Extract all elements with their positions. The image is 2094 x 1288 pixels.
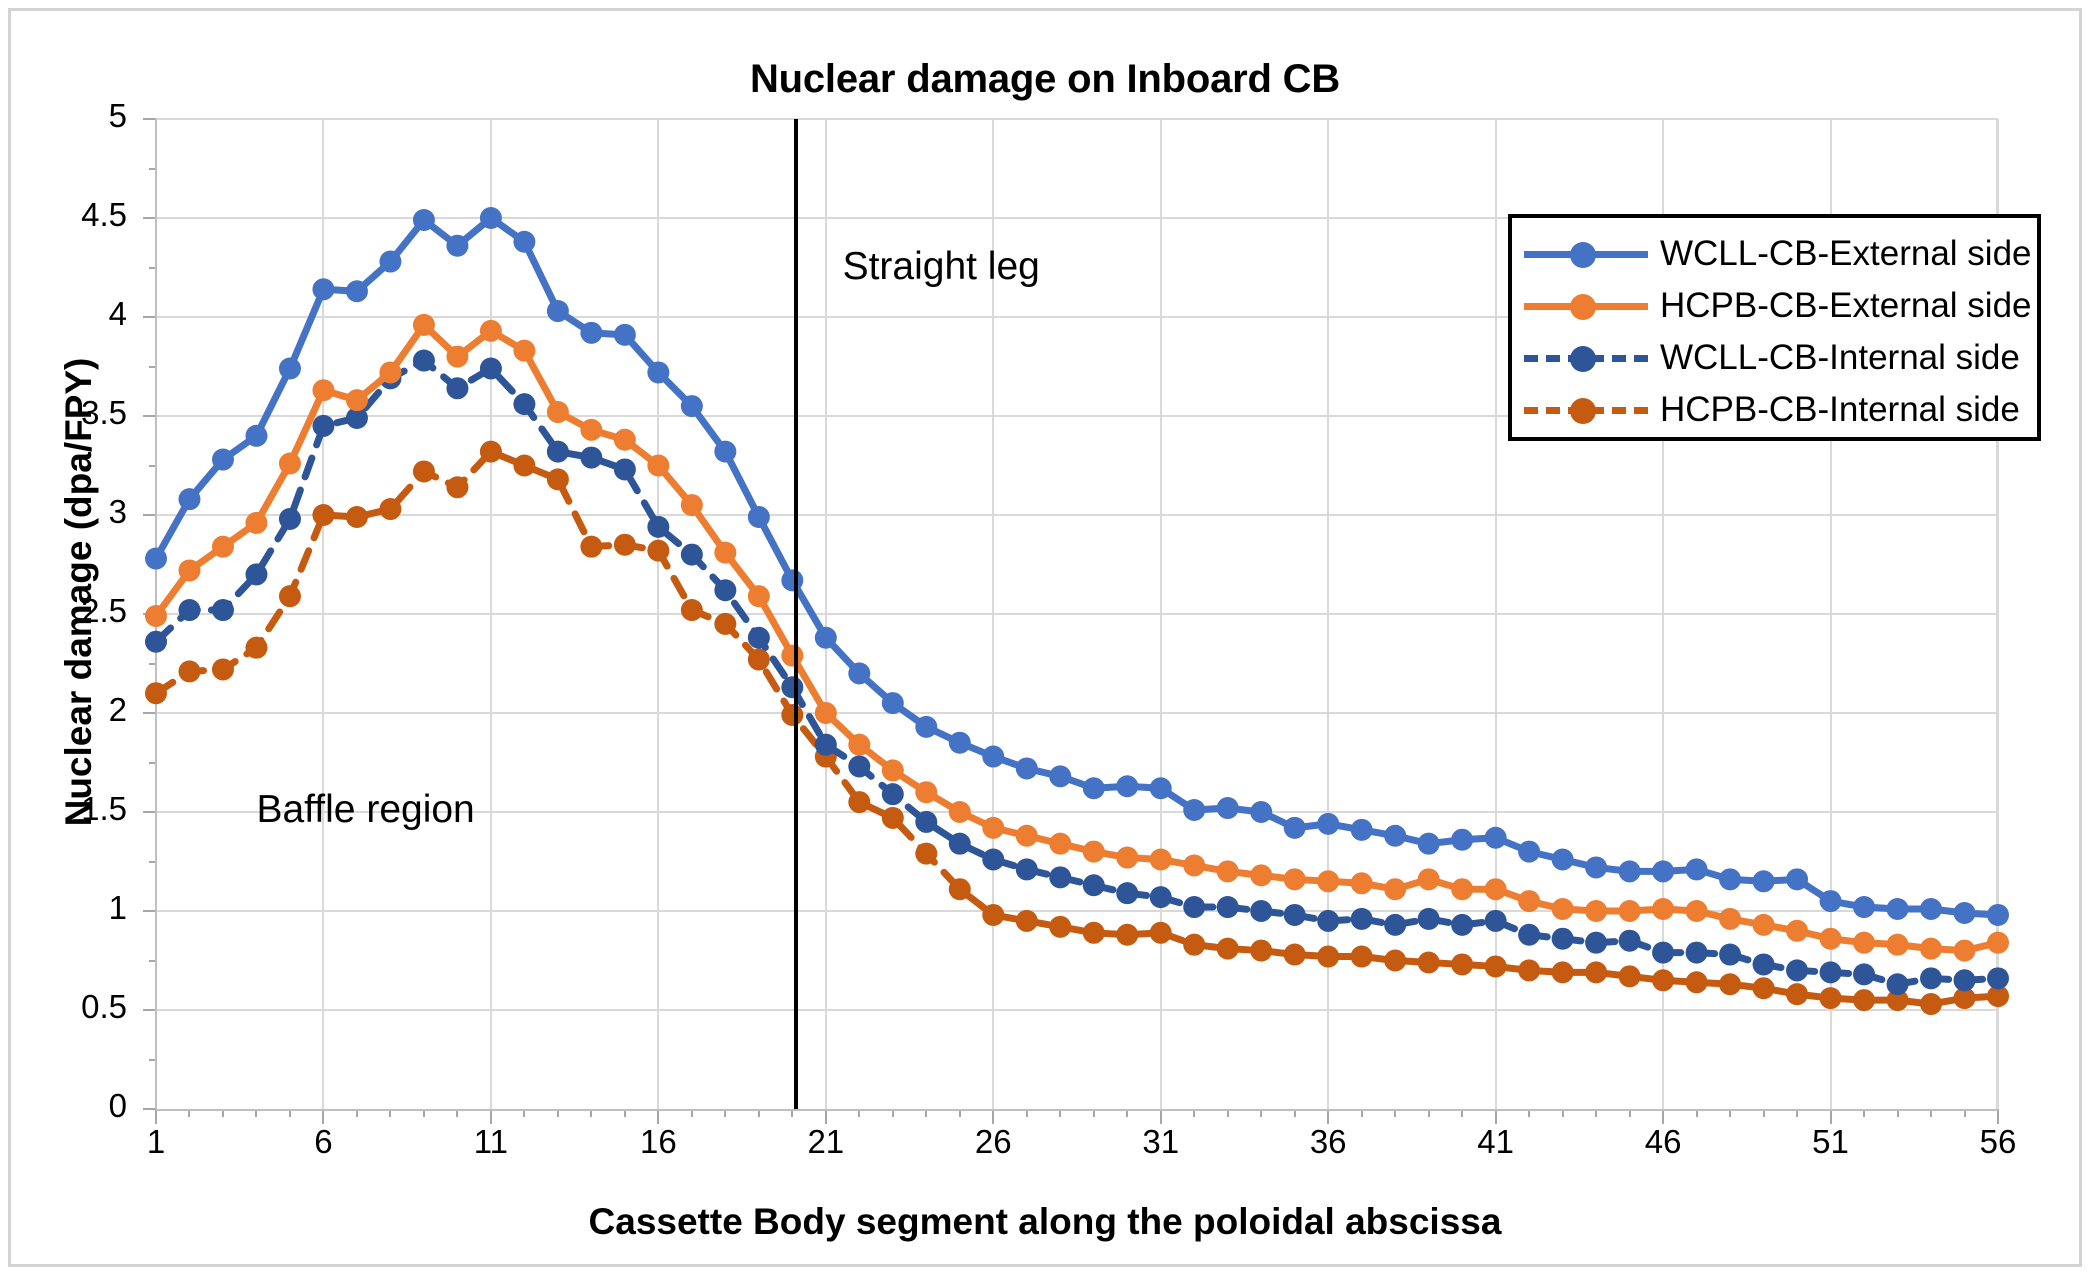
legend-label: HCPB-CB-External side: [1660, 286, 2032, 326]
x-tick-mark: [992, 1109, 994, 1124]
data-point: [1250, 864, 1272, 886]
data-point: [949, 801, 971, 823]
x-tick-mark: [825, 1109, 827, 1124]
data-point: [1384, 950, 1406, 972]
legend-item[interactable]: HCPB-CB-Internal side: [1524, 388, 2020, 432]
data-point: [346, 389, 368, 411]
data-point: [1753, 914, 1775, 936]
x-tick-mark: [155, 1109, 157, 1124]
legend-swatch-icon: [1524, 240, 1648, 268]
data-point: [614, 534, 636, 556]
data-point: [580, 447, 602, 469]
data-point: [279, 453, 301, 475]
data-point: [1418, 908, 1440, 930]
annotation-straight-leg: Straight leg: [843, 245, 1040, 289]
data-point: [145, 682, 167, 704]
data-point: [1518, 890, 1540, 912]
data-point: [1384, 878, 1406, 900]
data-point: [1016, 858, 1038, 880]
data-point: [1116, 882, 1138, 904]
chart-title: Nuclear damage on Inboard CB: [11, 57, 2079, 102]
data-point: [245, 425, 267, 447]
data-point: [1853, 932, 1875, 954]
x-tick-label: 21: [807, 1123, 844, 1161]
data-point: [145, 605, 167, 627]
data-point: [513, 393, 535, 415]
data-point: [1719, 944, 1741, 966]
x-tick-mark: [657, 1109, 659, 1124]
data-point: [882, 759, 904, 781]
data-point: [480, 441, 502, 463]
data-point: [1619, 900, 1641, 922]
y-tick-label: 0: [109, 1087, 127, 1125]
data-point: [1920, 967, 1942, 989]
data-point: [1887, 934, 1909, 956]
data-point: [1920, 898, 1942, 920]
x-tick-label: 46: [1645, 1123, 1682, 1161]
x-tick-label: 11: [474, 1123, 508, 1161]
data-point: [1619, 965, 1641, 987]
data-point: [1552, 928, 1574, 950]
data-point: [1954, 940, 1976, 962]
data-point: [1954, 969, 1976, 991]
data-point: [1451, 829, 1473, 851]
data-point: [681, 494, 703, 516]
data-point: [580, 419, 602, 441]
data-point: [1384, 825, 1406, 847]
data-point: [882, 783, 904, 805]
data-point: [245, 563, 267, 585]
data-point: [379, 498, 401, 520]
x-tick-mark: [322, 1109, 324, 1124]
data-point: [1016, 910, 1038, 932]
data-point: [748, 649, 770, 671]
data-point: [781, 645, 803, 667]
series-line: [156, 361, 1998, 985]
data-point: [1786, 983, 1808, 1005]
data-point: [949, 732, 971, 754]
data-point: [279, 357, 301, 379]
x-tick-label: 36: [1310, 1123, 1347, 1161]
data-point: [1418, 833, 1440, 855]
data-point: [1786, 868, 1808, 890]
data-point: [1719, 908, 1741, 930]
data-point: [1719, 973, 1741, 995]
data-point: [1753, 870, 1775, 892]
data-point: [1183, 896, 1205, 918]
data-point: [681, 599, 703, 621]
data-point: [1016, 825, 1038, 847]
data-point: [915, 716, 937, 738]
data-point: [714, 613, 736, 635]
data-point: [547, 468, 569, 490]
data-point: [1116, 775, 1138, 797]
data-point: [379, 361, 401, 383]
x-tick-label: 51: [1812, 1123, 1849, 1161]
data-point: [647, 540, 669, 562]
data-point: [1284, 817, 1306, 839]
data-point: [1853, 896, 1875, 918]
data-point: [1217, 938, 1239, 960]
y-axis-tick-labels: 00.511.522.533.544.55: [11, 11, 151, 1288]
data-point: [1585, 856, 1607, 878]
data-point: [1552, 898, 1574, 920]
data-point: [647, 516, 669, 538]
data-point: [848, 755, 870, 777]
data-point: [1049, 916, 1071, 938]
legend-marker-dot-icon: [1570, 398, 1596, 424]
data-point: [1585, 961, 1607, 983]
data-point: [714, 579, 736, 601]
data-point: [1686, 942, 1708, 964]
data-point: [848, 734, 870, 756]
data-point: [513, 340, 535, 362]
chart-frame: Nuclear damage on Inboard CB Nuclear dam…: [8, 8, 2082, 1267]
data-point: [1619, 860, 1641, 882]
data-point: [1351, 872, 1373, 894]
x-tick-label: 56: [1980, 1123, 2017, 1161]
annotation-baffle-region: Baffle region: [256, 788, 474, 832]
data-point: [547, 300, 569, 322]
data-point: [681, 395, 703, 417]
y-tick-label: 4: [109, 295, 127, 333]
x-axis-title: Cassette Body segment along the poloidal…: [11, 1201, 2079, 1243]
legend-item[interactable]: WCLL-CB-Internal side: [1524, 336, 2020, 380]
data-point: [413, 209, 435, 231]
data-point: [1083, 922, 1105, 944]
data-point: [848, 791, 870, 813]
data-point: [1049, 765, 1071, 787]
data-point: [781, 569, 803, 591]
data-point: [1753, 977, 1775, 999]
legend-marker-dot-icon: [1570, 242, 1596, 268]
legend-marker-dot-icon: [1570, 346, 1596, 372]
y-tick-label: 1.5: [81, 790, 127, 828]
data-point: [1619, 930, 1641, 952]
data-point: [212, 536, 234, 558]
data-point: [1250, 900, 1272, 922]
y-tick-label: 3.5: [81, 394, 127, 432]
data-point: [714, 542, 736, 564]
data-point: [1217, 860, 1239, 882]
x-tick-mark: [1662, 1109, 1664, 1124]
data-point: [1518, 959, 1540, 981]
y-tick-label: 2.5: [81, 592, 127, 630]
data-point: [312, 504, 334, 526]
data-point: [1317, 910, 1339, 932]
data-point: [1585, 900, 1607, 922]
data-point: [212, 599, 234, 621]
data-point: [1987, 904, 2009, 926]
data-point: [1652, 860, 1674, 882]
x-tick-mark: [490, 1109, 492, 1124]
data-point: [1686, 900, 1708, 922]
data-point: [1116, 847, 1138, 869]
data-point: [413, 460, 435, 482]
legend-marker-dot-icon: [1570, 294, 1596, 320]
data-point: [1686, 858, 1708, 880]
data-point: [1049, 833, 1071, 855]
data-point: [1183, 799, 1205, 821]
data-point: [1083, 874, 1105, 896]
legend-swatch-icon: [1524, 292, 1648, 320]
data-point: [1250, 940, 1272, 962]
data-point: [1351, 819, 1373, 841]
data-point: [1049, 866, 1071, 888]
data-point: [1284, 944, 1306, 966]
data-point: [1853, 963, 1875, 985]
data-point: [1150, 922, 1172, 944]
data-point: [1083, 777, 1105, 799]
data-point: [915, 843, 937, 865]
data-point: [145, 631, 167, 653]
y-tick-label: 5: [109, 97, 127, 135]
legend-label: WCLL-CB-External side: [1660, 234, 2032, 274]
data-point: [647, 455, 669, 477]
data-point: [949, 878, 971, 900]
y-tick-label: 3: [109, 493, 127, 531]
data-point: [882, 692, 904, 714]
y-tick-label: 2: [109, 691, 127, 729]
data-point: [145, 548, 167, 570]
data-point: [1887, 973, 1909, 995]
legend-label: WCLL-CB-Internal side: [1660, 338, 2020, 378]
x-tick-mark: [1830, 1109, 1832, 1124]
data-point: [1485, 878, 1507, 900]
x-axis-tick-marks: [156, 1109, 1998, 1125]
data-point: [580, 536, 602, 558]
data-point: [614, 324, 636, 346]
data-point: [1217, 896, 1239, 918]
data-point: [547, 401, 569, 423]
data-point: [513, 455, 535, 477]
x-tick-mark: [1495, 1109, 1497, 1124]
data-point: [1485, 827, 1507, 849]
data-point: [1652, 969, 1674, 991]
data-point: [1183, 854, 1205, 876]
data-point: [312, 278, 334, 300]
data-point: [1987, 932, 2009, 954]
data-point: [1820, 928, 1842, 950]
region-divider-line: [794, 119, 798, 1109]
data-point: [446, 476, 468, 498]
data-point: [681, 544, 703, 566]
data-point: [178, 488, 200, 510]
data-point: [1284, 868, 1306, 890]
legend-item[interactable]: HCPB-CB-External side: [1524, 284, 2032, 328]
legend-swatch-icon: [1524, 344, 1648, 372]
data-point: [547, 441, 569, 463]
y-tick-label: 1: [109, 889, 127, 927]
data-point: [480, 357, 502, 379]
data-point: [446, 235, 468, 257]
data-point: [580, 322, 602, 344]
data-point: [982, 849, 1004, 871]
data-point: [413, 350, 435, 372]
data-point: [1418, 951, 1440, 973]
data-point: [1083, 841, 1105, 863]
data-point: [245, 637, 267, 659]
data-point: [714, 441, 736, 463]
data-point: [346, 280, 368, 302]
data-point: [781, 704, 803, 726]
data-point: [1451, 914, 1473, 936]
legend-swatch-icon: [1524, 396, 1648, 424]
x-axis-tick-labels: 1611162126313641465156: [156, 1123, 1998, 1183]
data-point: [312, 379, 334, 401]
data-point: [1820, 890, 1842, 912]
data-point: [1987, 967, 2009, 989]
data-point: [1753, 953, 1775, 975]
legend-label: HCPB-CB-Internal side: [1660, 390, 2020, 430]
data-point: [1317, 946, 1339, 968]
legend-item[interactable]: WCLL-CB-External side: [1524, 232, 2032, 276]
data-point: [245, 512, 267, 534]
data-point: [1518, 924, 1540, 946]
data-point: [1016, 757, 1038, 779]
data-point: [1485, 910, 1507, 932]
data-point: [1317, 813, 1339, 835]
data-point: [1150, 886, 1172, 908]
data-point: [480, 320, 502, 342]
data-point: [1786, 920, 1808, 942]
x-tick-mark: [1160, 1109, 1162, 1124]
data-point: [647, 361, 669, 383]
data-point: [748, 627, 770, 649]
data-point: [1954, 902, 1976, 924]
legend: WCLL-CB-External sideHCPB-CB-External si…: [1508, 214, 2041, 441]
data-point: [1652, 898, 1674, 920]
data-point: [446, 346, 468, 368]
data-point: [614, 429, 636, 451]
data-point: [1116, 924, 1138, 946]
data-point: [848, 662, 870, 684]
data-point: [178, 559, 200, 581]
y-tick-label: 0.5: [81, 988, 127, 1026]
data-point: [982, 817, 1004, 839]
data-point: [1150, 849, 1172, 871]
data-point: [1552, 961, 1574, 983]
data-point: [748, 585, 770, 607]
data-point: [982, 746, 1004, 768]
data-point: [1887, 898, 1909, 920]
data-point: [446, 377, 468, 399]
data-point: [1317, 870, 1339, 892]
data-point: [1820, 961, 1842, 983]
data-point: [1485, 955, 1507, 977]
series-wcll-cb-internal-side: [145, 350, 2009, 996]
data-point: [915, 781, 937, 803]
x-tick-label: 41: [1477, 1123, 1514, 1161]
data-point: [1920, 938, 1942, 960]
data-point: [1284, 904, 1306, 926]
data-point: [1183, 934, 1205, 956]
data-point: [781, 676, 803, 698]
x-tick-label: 16: [640, 1123, 677, 1161]
data-point: [915, 811, 937, 833]
data-point: [614, 458, 636, 480]
data-point: [212, 658, 234, 680]
x-tick-label: 31: [1142, 1123, 1179, 1161]
x-tick-label: 1: [147, 1123, 165, 1161]
x-tick-mark: [1997, 1109, 1999, 1124]
x-tick-label: 26: [975, 1123, 1012, 1161]
data-point: [178, 599, 200, 621]
data-point: [949, 833, 971, 855]
data-point: [312, 415, 334, 437]
data-point: [1250, 801, 1272, 823]
data-point: [212, 449, 234, 471]
data-point: [1786, 959, 1808, 981]
data-point: [1384, 914, 1406, 936]
data-point: [1585, 932, 1607, 954]
data-point: [1351, 946, 1373, 968]
plot-border-bottom: [156, 1109, 1998, 1111]
data-point: [1217, 797, 1239, 819]
data-point: [1351, 908, 1373, 930]
data-point: [982, 904, 1004, 926]
data-point: [1451, 953, 1473, 975]
data-point: [1418, 868, 1440, 890]
data-point: [1451, 878, 1473, 900]
data-point: [882, 807, 904, 829]
data-point: [279, 508, 301, 530]
data-point: [1719, 868, 1741, 890]
y-tick-label: 4.5: [81, 196, 127, 234]
data-point: [815, 627, 837, 649]
x-tick-label: 6: [314, 1123, 332, 1161]
data-point: [748, 506, 770, 528]
data-point: [1853, 989, 1875, 1011]
data-point: [178, 660, 200, 682]
data-point: [513, 231, 535, 253]
data-point: [346, 506, 368, 528]
data-point: [480, 207, 502, 229]
data-point: [1686, 971, 1708, 993]
data-point: [1552, 849, 1574, 871]
data-point: [379, 251, 401, 273]
data-point: [1820, 987, 1842, 1009]
data-point: [279, 585, 301, 607]
data-point: [413, 314, 435, 336]
data-point: [1150, 777, 1172, 799]
data-point: [1920, 993, 1942, 1015]
data-point: [1652, 942, 1674, 964]
data-point: [815, 734, 837, 756]
x-tick-mark: [1327, 1109, 1329, 1124]
data-point: [1518, 841, 1540, 863]
data-point: [815, 702, 837, 724]
